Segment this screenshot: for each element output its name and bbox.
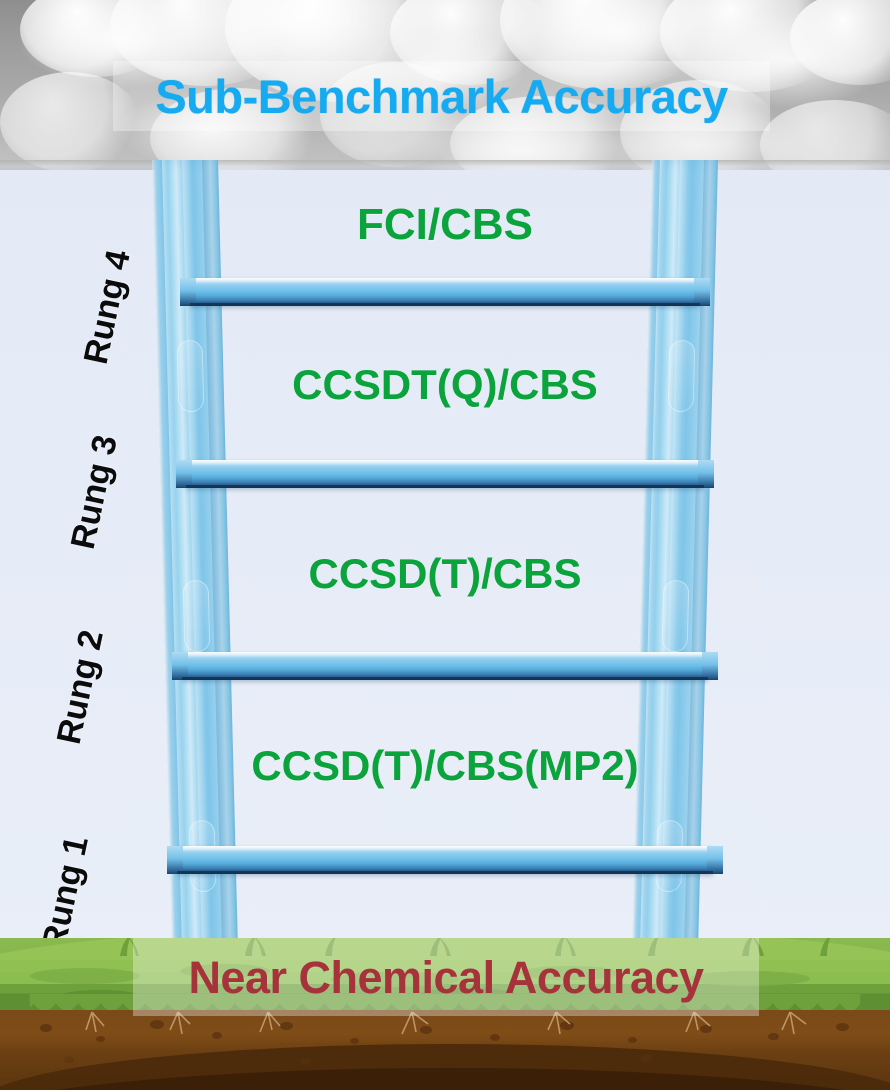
ladder-rung-3: [186, 460, 704, 488]
ladder-rung-2: [182, 652, 708, 680]
ladder-rung-4: [190, 278, 700, 306]
rung-4-method-label: FCI/CBS: [186, 203, 704, 247]
rung-1-method-label: CCSD(T)/CBS(MP2): [176, 745, 714, 787]
ladder-rung-1: [177, 846, 713, 874]
soil-layer: [0, 1010, 890, 1090]
rung-3-method-label: CCSDT(Q)/CBS: [186, 364, 704, 406]
footer-banner: Near Chemical Accuracy: [133, 938, 759, 1016]
rung-2-method-label: CCSD(T)/CBS: [186, 553, 704, 595]
ladder-infographic: Sub-Benchmark Accuracy: [0, 0, 890, 1090]
page-title: Sub-Benchmark Accuracy: [155, 73, 727, 120]
title-banner: Sub-Benchmark Accuracy: [113, 61, 770, 131]
footer-title: Near Chemical Accuracy: [188, 955, 703, 1000]
